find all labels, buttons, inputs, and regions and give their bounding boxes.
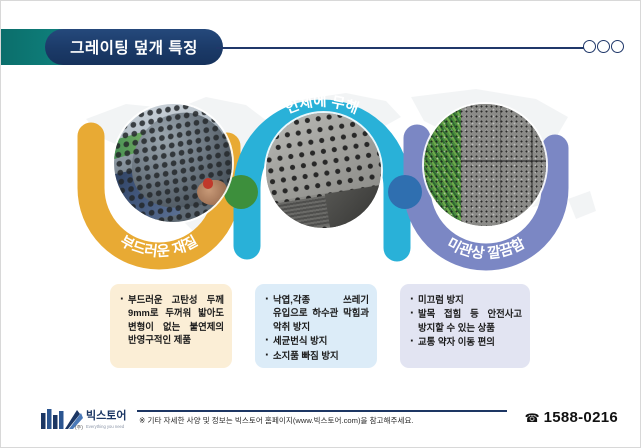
junction-blue-dot [388, 175, 422, 209]
header-rule [216, 47, 584, 49]
grating-tiles-photo [424, 104, 546, 226]
feature-bullet-list: 낙엽,각종 쓰레기 유입으로 하수관 막힘과 악취 방지 세균번식 방지 소지품… [264, 293, 369, 362]
feature-bullet: 세균번식 방지 [264, 334, 369, 347]
feature-box-soft-material: 부드러운 고탄성 두께 9mm로 두꺼워 밟아도 변형이 없는 불연제의 반영구… [110, 284, 232, 368]
feature-bullet: 교통 약자 이동 편의 [409, 335, 522, 348]
footer-note: ※ 기타 자세한 사양 및 정보는 빅스토어 홈페이지(www.빅스토어.com… [139, 415, 511, 426]
footer-rule [137, 410, 507, 412]
decor-circle-icon [611, 40, 624, 53]
company-logo: 빅스토어 (주) Everything you need [39, 405, 131, 435]
perforated-slab-photo [266, 113, 381, 228]
page-title: 그레이팅 덮개 특징 [70, 36, 198, 58]
slide-canvas: 그레이팅 덮개 특징 부드러운 재질 [0, 0, 641, 448]
feature-box-neat-look: 미끄럼 방지 발목 접힘 등 안전사고 방지할 수 있는 상품 교통 약자 이동… [400, 284, 530, 368]
logo-tagline: Everything you need [86, 424, 125, 429]
feature-bullet: 낙엽,각종 쓰레기 유입으로 하수관 막힘과 악취 방지 [264, 293, 369, 333]
logo-text: 빅스토어 [86, 408, 126, 422]
feature-visuals: 부드러운 재질 인체에 무해 미관상 깔끔함 [1, 76, 641, 276]
feature-bullet-list: 부드러운 고탄성 두께 9mm로 두꺼워 밟아도 변형이 없는 불연제의 반영구… [119, 293, 224, 347]
feature-bullet-list: 미끄럼 방지 발목 접힘 등 안전사고 방지할 수 있는 상품 교통 약자 이동… [409, 293, 522, 349]
phone-number: 1588-0216 [544, 409, 618, 426]
decor-circle-icon [583, 40, 596, 53]
contact-phone: ☎ 1588-0216 [525, 409, 618, 426]
feature-box-harmless: 낙엽,각종 쓰레기 유입으로 하수관 막힘과 악취 방지 세균번식 방지 소지품… [255, 284, 377, 368]
decor-circle-icon [597, 40, 610, 53]
feature-bullet: 부드러운 고탄성 두께 9mm로 두꺼워 밟아도 변형이 없는 불연제의 반영구… [119, 293, 224, 347]
feature-bullet: 미끄럼 방지 [409, 293, 522, 306]
telephone-icon: ☎ [525, 411, 540, 425]
page-title-pill: 그레이팅 덮개 특징 [45, 29, 223, 65]
logo-prefix: (주) [75, 425, 83, 431]
feature-bullet: 소지품 빠짐 방지 [264, 349, 369, 362]
feature-bullet: 발목 접힘 등 안전사고 방지할 수 있는 상품 [409, 307, 522, 334]
soft-mat-photo [114, 104, 232, 222]
header-decor-dots [583, 40, 624, 53]
